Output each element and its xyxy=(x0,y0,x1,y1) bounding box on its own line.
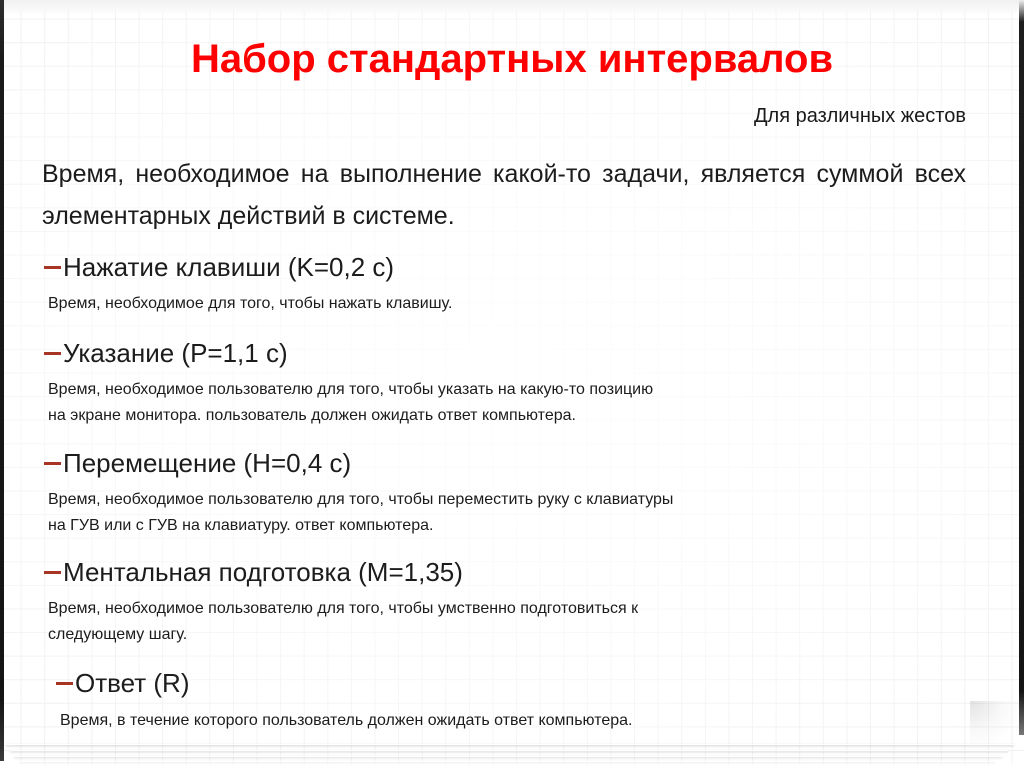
description-line: Время, необходимое пользователю для того… xyxy=(48,487,1024,513)
description-line: на ГУВ или с ГУВ на клавиатуру. ответ ко… xyxy=(48,513,1024,539)
list-item: Ментальная подготовка (M=1,35) Время, не… xyxy=(44,553,1024,648)
list-item-description: Время, необходимое пользователю для того… xyxy=(48,596,1024,648)
description-line: Время, необходимое пользователю для того… xyxy=(48,377,1024,403)
list-item-heading: Нажатие клавиши (K=0,2 с) xyxy=(44,248,1024,286)
list-item-heading: Ответ (R) xyxy=(56,664,1024,702)
list-item: Нажатие клавиши (K=0,2 с) Время, необход… xyxy=(44,248,1024,317)
description-line: Время, необходимое пользователю для того… xyxy=(48,596,1024,622)
page-title: Набор стандартных интервалов xyxy=(0,38,1024,80)
list-item-description: Время, необходимое пользователю для того… xyxy=(48,487,1024,539)
slide-subtitle: Для различных жестов xyxy=(754,105,966,127)
description-line: Время, в течение которого пользователь д… xyxy=(60,708,1024,734)
list-item: Ответ (R) Время, в течение которого поль… xyxy=(56,664,1024,734)
slide: Набор стандартных интервалов Для различн… xyxy=(0,0,1024,767)
slide-content: Набор стандартных интервалов Для различн… xyxy=(0,0,1024,767)
list-item-heading: Указание (P=1,1 с) xyxy=(44,334,1024,372)
dash-bullet-icon xyxy=(44,462,61,465)
list-item: Указание (P=1,1 с) Время, необходимое по… xyxy=(44,334,1024,429)
intro-paragraph: Время, необходимое на выполнение какой-т… xyxy=(42,153,966,237)
dash-bullet-icon xyxy=(44,266,61,269)
list-item: Перемещение (H=0,4 с) Время, необходимое… xyxy=(44,444,1024,539)
description-line: Время, необходимое для того, чтобы нажат… xyxy=(48,291,1024,317)
list-item-description: Время, в течение которого пользователь д… xyxy=(60,708,1024,734)
list-item-description: Время, необходимое для того, чтобы нажат… xyxy=(48,291,1024,317)
description-line: следующему шагу. xyxy=(48,622,1024,648)
description-line: на экране монитора. пользователь должен … xyxy=(48,403,1024,429)
list-item-heading-label: Ответ (R) xyxy=(75,664,189,702)
list-item-heading: Перемещение (H=0,4 с) xyxy=(44,444,1024,482)
list-item-heading-label: Указание (P=1,1 с) xyxy=(63,334,288,372)
list-item-heading-label: Перемещение (H=0,4 с) xyxy=(63,444,351,482)
dash-bullet-icon xyxy=(56,682,73,685)
list-item-heading-label: Нажатие клавиши (K=0,2 с) xyxy=(63,248,394,286)
list-item-description: Время, необходимое пользователю для того… xyxy=(48,377,1024,429)
intro-paragraph-text: Время, необходимое на выполнение какой-т… xyxy=(42,160,966,230)
list-item-heading: Ментальная подготовка (M=1,35) xyxy=(44,553,1024,591)
list-item-heading-label: Ментальная подготовка (M=1,35) xyxy=(63,553,463,591)
interval-list: Нажатие клавиши (K=0,2 с) Время, необход… xyxy=(0,248,1024,734)
dash-bullet-icon xyxy=(44,571,61,574)
dash-bullet-icon xyxy=(44,352,61,355)
